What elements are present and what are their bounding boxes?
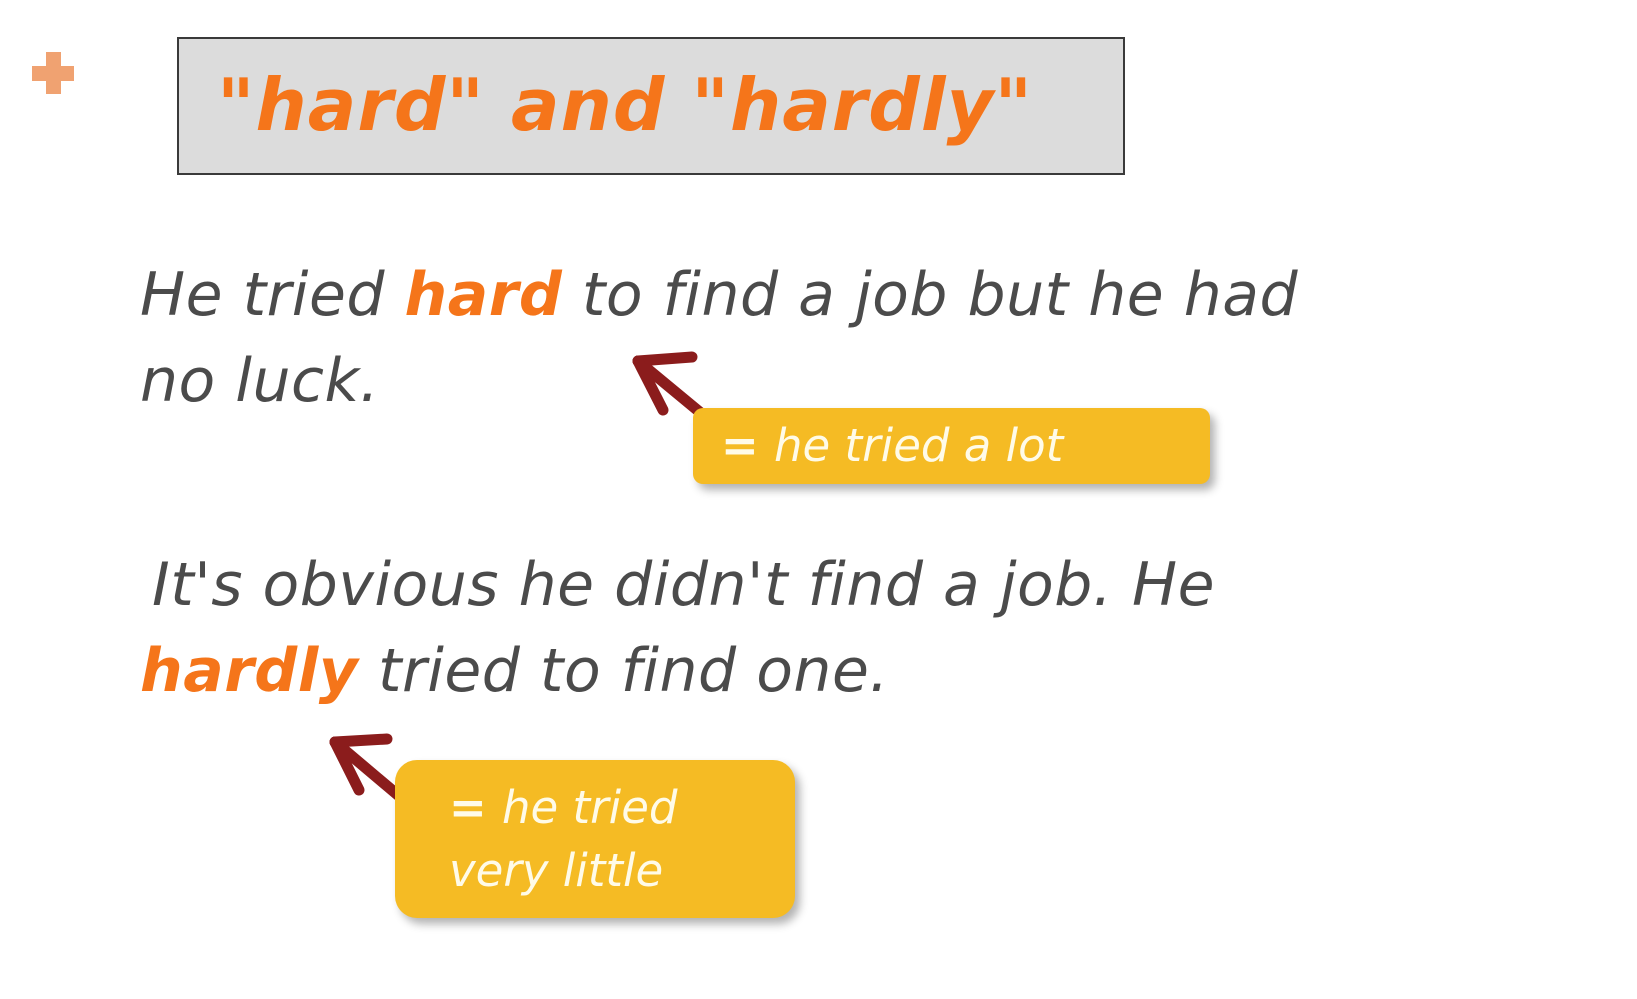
callout-he-tried-a-lot: = he tried a lot [693,408,1210,484]
example-1-line-1: He tried hard to find a job but he had [140,262,1298,328]
slide-canvas: "hard" and "hardly" He tried hard to fin… [0,0,1637,999]
example-2-line-2: hardly tried to find one. [140,638,889,704]
title-box: "hard" and "hardly" [177,37,1125,175]
page-title: "hard" and "hardly" [217,68,1033,144]
example-1-line-2: no luck. [140,348,379,414]
callout-2-row-2: very little [449,841,771,900]
callout-1-line-1: he tried a lot [774,419,1063,472]
example-2-highlight-hardly: hardly [140,636,358,706]
example-2-text-after: tried to find one. [358,636,889,706]
example-1-text-after: to find a job but he had [562,260,1298,330]
callout-2-line-1: he tried [502,781,677,834]
example-1-text-before: He tried [140,260,405,330]
callout-2-equals: = [449,781,488,834]
example-1-highlight-hard: hard [405,260,563,330]
callout-1-equals: = [721,419,760,472]
example-2-line-1: It's obvious he didn't find a job. He [152,552,1215,618]
callout-2-row-1: = he tried [449,778,771,837]
callout-1-row: = he tried a lot [721,416,1184,475]
plus-icon [32,52,74,94]
callout-he-tried-very-little: = he tried very little [395,760,795,918]
plus-icon-vertical-bar [46,52,61,94]
